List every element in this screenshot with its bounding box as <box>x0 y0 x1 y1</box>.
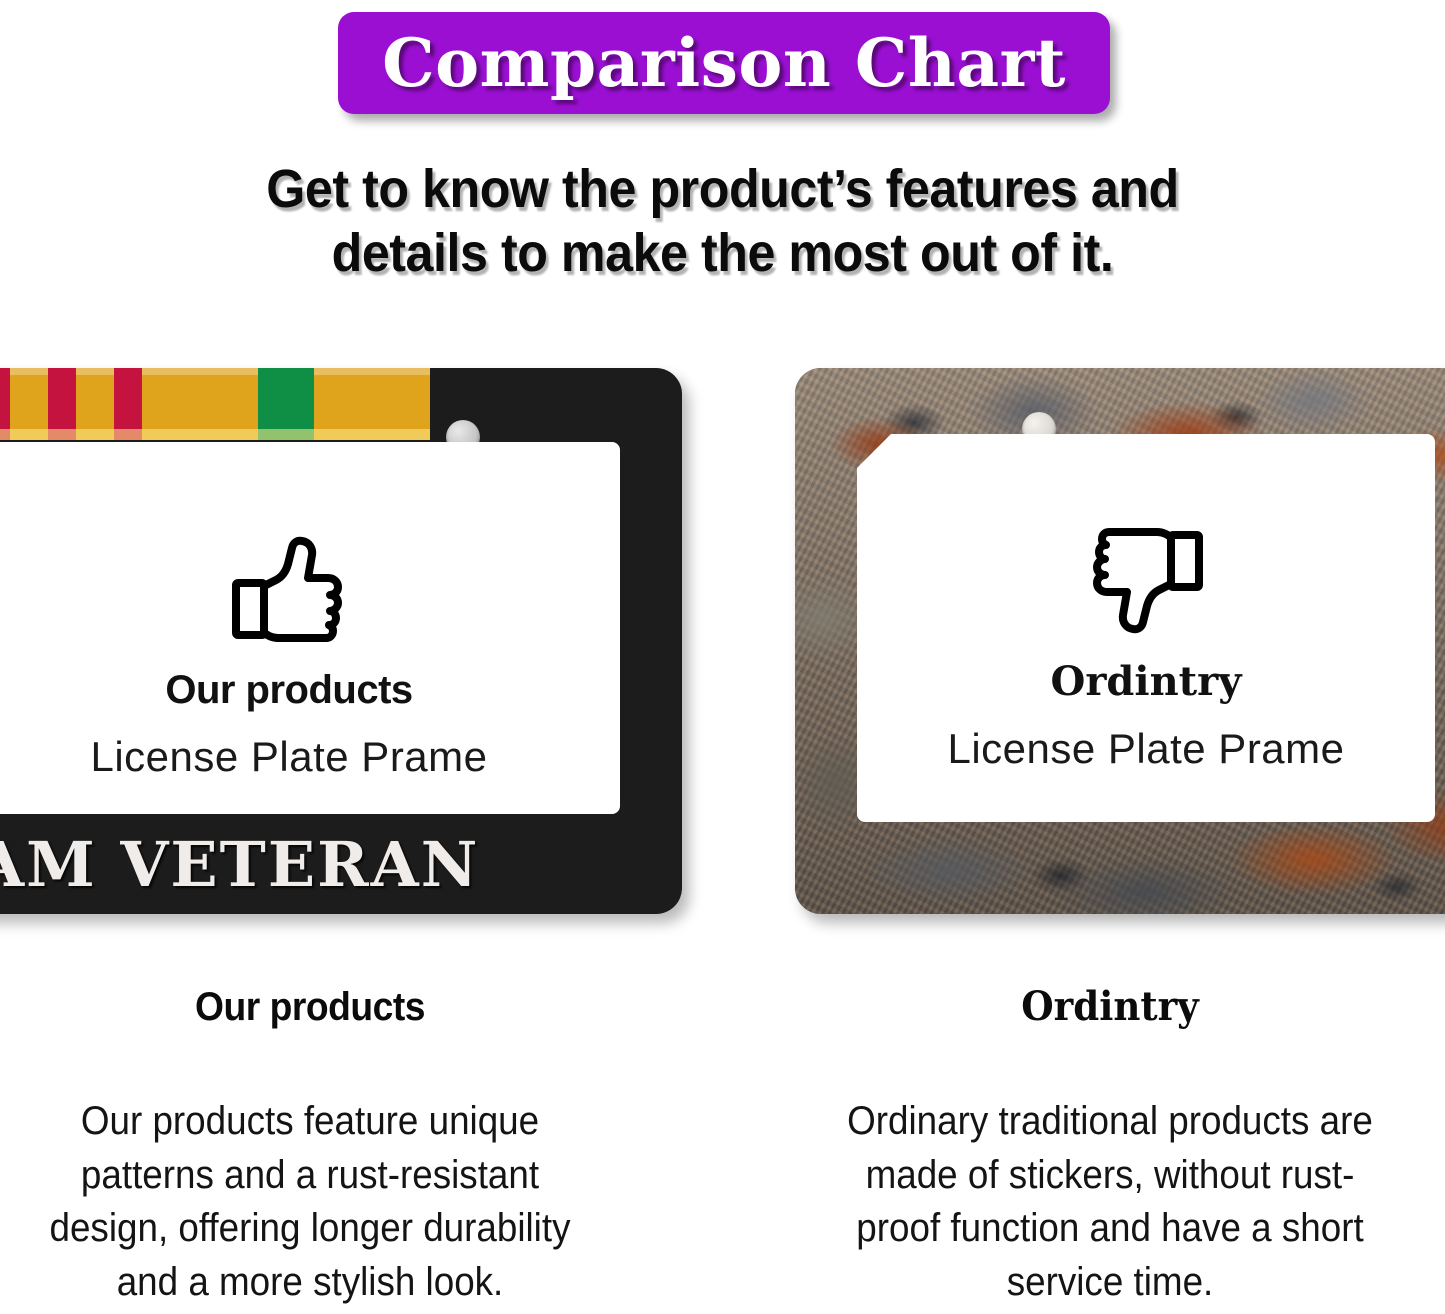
our-plate-engraved-text: AM VETERAN <box>0 814 682 914</box>
ordinary-product-license-plate-frame: Ordintry License Plate Prame <box>795 368 1445 914</box>
our-plate-window: Our products License Plate Prame <box>0 442 620 814</box>
our-plate-window-content: Our products License Plate Prame <box>0 536 620 780</box>
comparison-chart-banner: Comparison Chart <box>338 12 1110 114</box>
ordinary-plate-window-content: Ordintry License Plate Prame <box>857 528 1435 772</box>
subtitle-line-1: Get to know the product’s features and <box>51 158 1395 222</box>
our-product-license-plate-frame: Our products License Plate Prame AM VETE… <box>0 368 682 914</box>
ribbon-highlight-bottom <box>0 429 430 440</box>
page-title: Comparison Chart <box>382 24 1066 102</box>
description-row: Our products Our products feature unique… <box>0 985 1445 1314</box>
ordinary-description-body: Ordinary traditional products are made o… <box>793 1095 1428 1309</box>
page-subtitle: Get to know the product’s features and d… <box>51 158 1395 285</box>
our-product-description-column: Our products Our products feature unique… <box>0 985 655 1309</box>
thumbs-up-icon <box>230 536 348 642</box>
our-description-heading: Our products <box>0 985 631 1029</box>
ordinary-description-heading: Ordintry <box>789 985 1431 1029</box>
thumbs-down-icon <box>1087 528 1205 634</box>
ordinary-product-sublabel: License Plate Prame <box>857 726 1435 772</box>
our-product-sublabel: License Plate Prame <box>0 734 620 780</box>
our-product-label: Our products <box>0 668 620 712</box>
subtitle-line-2: details to make the most out of it. <box>51 222 1395 286</box>
our-description-body: Our products feature unique patterns and… <box>0 1095 627 1309</box>
ordinary-plate-window: Ordintry License Plate Prame <box>857 434 1435 822</box>
ordinary-product-label: Ordintry <box>857 660 1435 704</box>
product-comparison-row: Our products License Plate Prame AM VETE… <box>0 358 1445 924</box>
ordinary-product-description-column: Ordintry Ordinary traditional products a… <box>765 985 1445 1309</box>
vietnam-service-ribbon <box>0 368 430 440</box>
